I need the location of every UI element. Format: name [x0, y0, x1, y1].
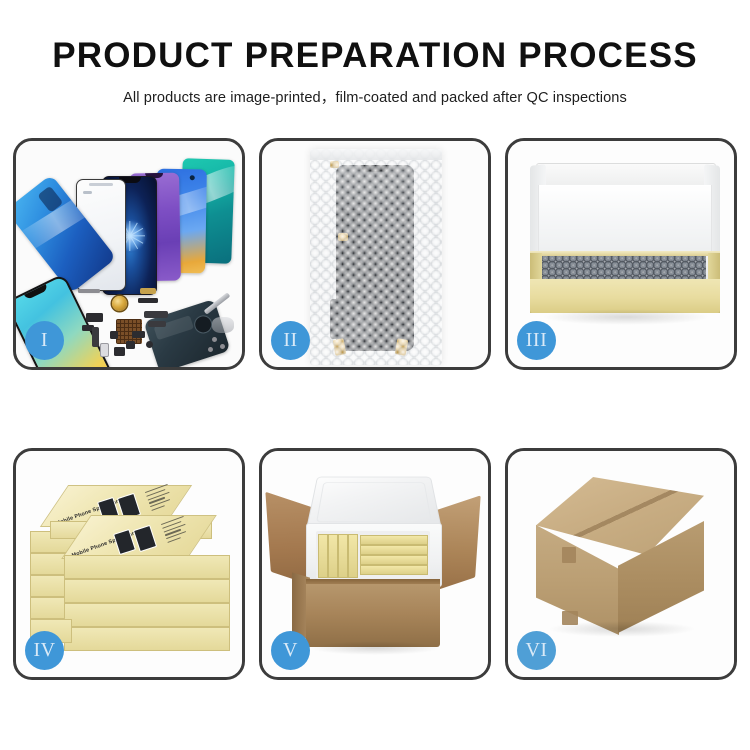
screw-icon [146, 341, 153, 348]
step-badge-4-label: IV [33, 639, 55, 662]
retail-box-icon [318, 534, 328, 578]
spare-part-icon [138, 298, 158, 303]
step-badge-1-label: I [41, 329, 48, 352]
spare-part-icon [100, 343, 109, 357]
page-subtitle: All products are image-printed，film-coat… [0, 86, 750, 107]
process-step-card-3: III [505, 138, 737, 370]
spare-part-icon [86, 313, 103, 322]
step-badge-6-label: VI [525, 639, 547, 662]
bubble-texture [310, 149, 442, 365]
packing-tape-icon [562, 547, 576, 563]
box-front-panel-icon [530, 279, 720, 313]
step-badge-2-label: II [283, 329, 297, 352]
cooler-interior-icon [316, 531, 430, 579]
step-badge-5: V [271, 631, 310, 670]
header: PRODUCT PREPARATION PROCESS All products… [0, 0, 750, 107]
step-badge-3-label: III [526, 329, 547, 352]
carton-shadow [310, 641, 440, 655]
retail-box-icon [328, 534, 338, 578]
step-badge-4: IV [25, 631, 64, 670]
flex-cable-icon [144, 311, 168, 318]
process-step-card-5: V [259, 448, 491, 680]
carton-shadow [548, 621, 696, 637]
retail-box-icon [348, 534, 358, 578]
stacked-box-icon [64, 627, 230, 651]
screw-icon [212, 337, 217, 342]
bubble-wrap-bag-icon [310, 149, 442, 365]
bag-seal-icon [310, 149, 442, 160]
step-badge-3: III [517, 321, 556, 360]
foam-lining-icon [538, 185, 712, 259]
process-step-card-4: Mobile Phone Spare Parts Mobile Phone Sp… [13, 448, 245, 680]
retail-box-icon [360, 565, 428, 575]
step-badge-6: VI [517, 631, 556, 670]
spare-part-icon [110, 331, 118, 339]
retail-box-icon [360, 555, 428, 565]
flex-cable-icon [148, 321, 166, 327]
stacked-box-icon [64, 555, 230, 579]
step-badge-1: I [25, 321, 64, 360]
process-step-card-6: VI [505, 448, 737, 680]
copper-coil-icon [112, 296, 127, 311]
step-badge-2: II [271, 321, 310, 360]
stacked-box-icon [64, 603, 230, 627]
tool-icon [212, 317, 234, 333]
screw-icon [208, 347, 213, 352]
spare-part-icon [140, 288, 156, 294]
spare-part-icon [114, 347, 125, 356]
retail-box-icon [360, 535, 428, 545]
box-rim-icon [530, 251, 720, 256]
spare-part-icon [78, 289, 100, 293]
box-shadow [542, 309, 710, 325]
retail-box-icon [360, 545, 428, 555]
spare-part-icon [132, 331, 145, 338]
product-preparation-infographic: PRODUCT PREPARATION PROCESS All products… [0, 0, 750, 750]
page-title: PRODUCT PREPARATION PROCESS [0, 38, 750, 73]
process-step-card-1: I [13, 138, 245, 370]
process-step-grid: I II [13, 138, 737, 684]
screw-icon [220, 344, 225, 349]
spare-part-icon [126, 341, 135, 349]
stacked-box-icon [64, 579, 230, 603]
flex-cable-icon [92, 327, 99, 347]
carton-front-icon [306, 579, 440, 647]
retail-box-icon [338, 534, 348, 578]
process-step-card-2: II [259, 138, 491, 370]
step-badge-5-label: V [283, 639, 298, 662]
